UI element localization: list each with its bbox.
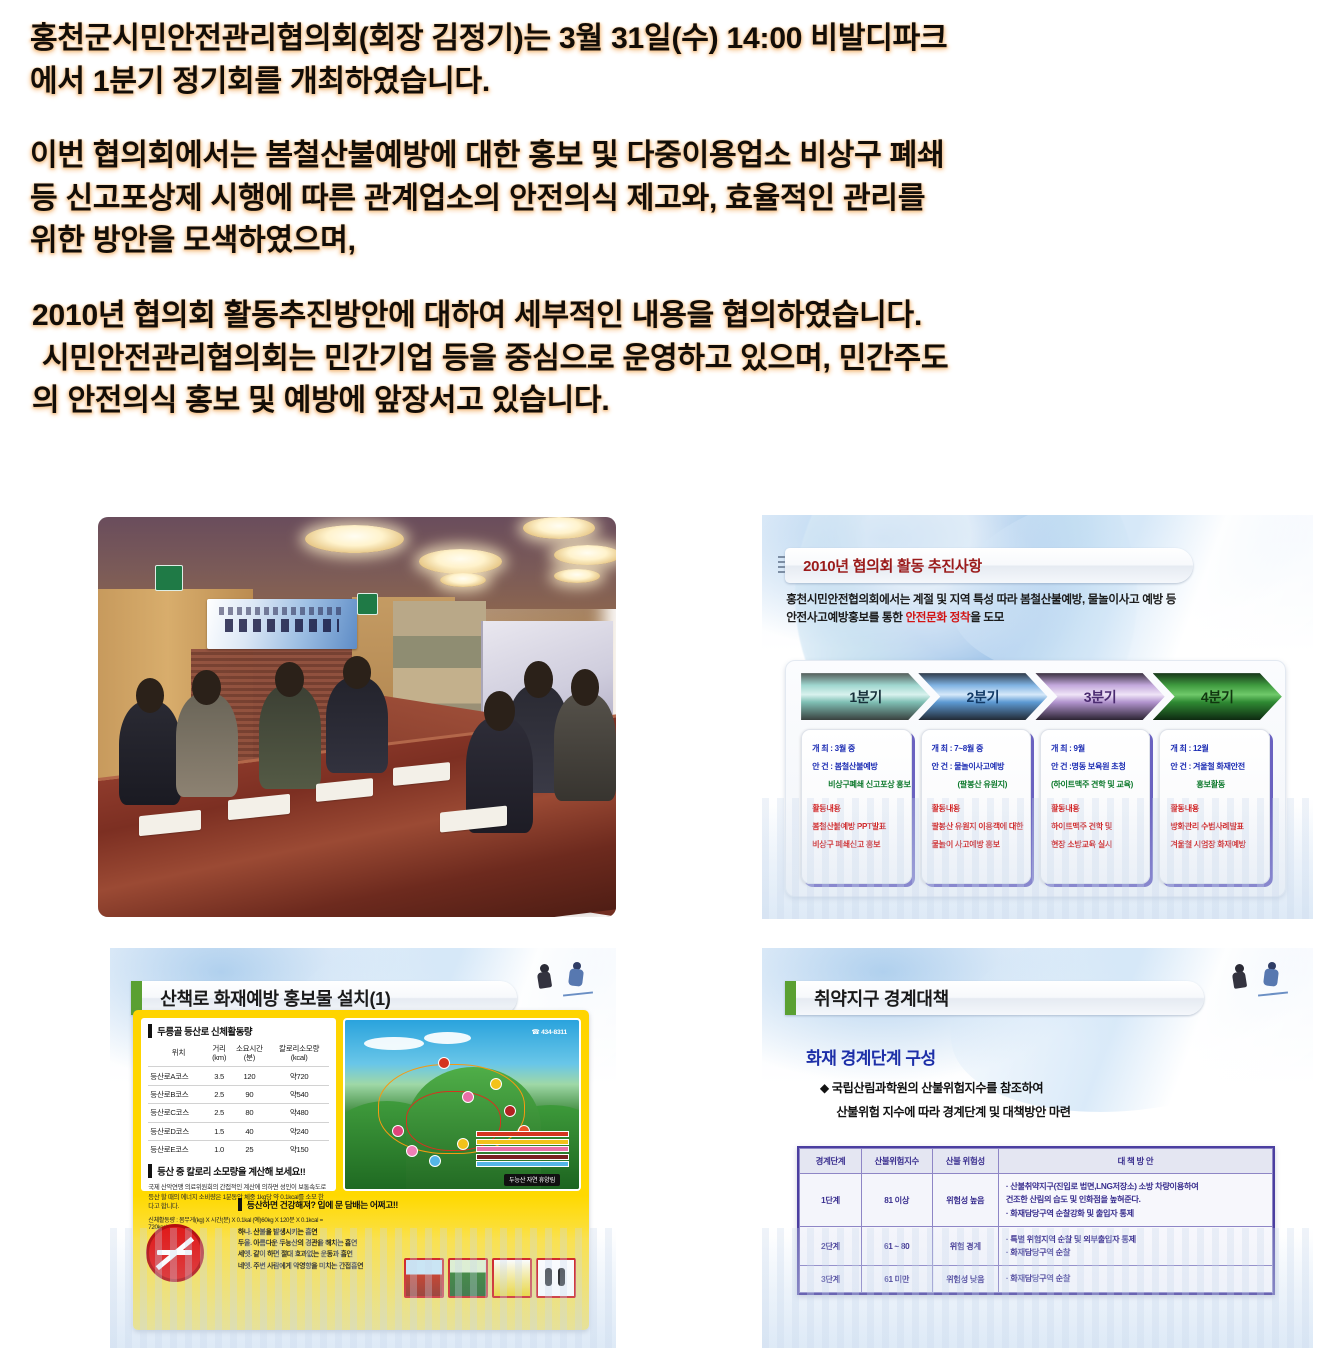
- paragraph-line: 에서 1분기 정기회를 개최하였습니다.: [30, 61, 1310, 104]
- banner-title-text: [225, 619, 339, 632]
- attendee: [259, 685, 321, 789]
- cell-kcal: 약720: [269, 1067, 329, 1085]
- paragraph-line: 시민안전관리협의회는 민간기업 등을 중심으로 운영하고 있으며, 민간주도: [32, 338, 1310, 381]
- cell-min: 40: [229, 1122, 269, 1140]
- quarter-card-row: 개 최 : 3월 중 안 건 : 봄철산불예방 비상구폐쇄 신고포상 홍보 활동…: [801, 729, 1270, 884]
- slide-title: 산책로 화재예방 홍보물 설치(1): [142, 985, 390, 1011]
- paragraph-line: 2010년 협의회 활동추진방안에 대하여 세부적인 내용을 협의하였습니다.: [32, 295, 1310, 338]
- table-row: 등산로C코스 2.5 80 약480: [148, 1104, 329, 1122]
- ceiling-lamp-icon: [554, 569, 601, 583]
- paragraph-line: 의 안전의식 홍보 및 예방에 앞장서고 있습니다.: [32, 380, 1310, 423]
- cell-km: 1.0: [209, 1140, 230, 1158]
- th-risk-level: 산불 위험성: [932, 1149, 998, 1174]
- skier-icons: [535, 962, 599, 996]
- table-row: 1단계 81 이상 위험성 높음 · 산불취약지구(진입로 법면,LNG저장소)…: [800, 1174, 1273, 1227]
- cloud-icon: [424, 1032, 471, 1044]
- card-agenda: 안 건 : 물놀이사고예방: [932, 762, 1022, 773]
- wildfire-pictogram-icon: [404, 1258, 444, 1298]
- cell-course: 등산로E코스: [148, 1140, 208, 1158]
- slide-title: 2010년 협의회 활동 추진사항: [785, 555, 982, 576]
- activity-table-panel: 두릉골 등산로 신체활동량 위치 거리 (km): [141, 1018, 336, 1191]
- cell-km: 2.5: [209, 1104, 230, 1122]
- plan-line: · 특별 위험지역 순찰 및 외부출입자 통제: [1006, 1233, 1268, 1246]
- title-tick-marks-icon: [778, 556, 785, 575]
- plan-line: · 화재담당구역 순찰: [1006, 1272, 1268, 1285]
- skier-icon: [1260, 962, 1286, 995]
- card-activity-1: 방화관리 수범사례발표: [1170, 822, 1260, 833]
- legend-swatch: [476, 1139, 569, 1145]
- cell-kcal: 약150: [269, 1140, 329, 1158]
- legend-swatch: [476, 1161, 569, 1167]
- card-activity-2: 물놀이 사고예방 홍보: [932, 840, 1022, 851]
- exit-sign-icon: [357, 593, 378, 615]
- activity-table: 위치 거리 (km) 소요시간 (분): [148, 1043, 329, 1158]
- cell-risk: 위험성 높음: [932, 1174, 998, 1227]
- quarter-chevron-q4[interactable]: 4분기: [1153, 673, 1282, 720]
- exit-sign-icon: [155, 565, 183, 591]
- table-row: 등산로A코스 3.5 120 약720: [148, 1067, 329, 1085]
- cell-min: 80: [229, 1104, 269, 1122]
- card-activity-1: 하이트맥주 견학 및: [1051, 822, 1141, 833]
- trail-marker: [504, 1105, 516, 1117]
- card-agenda-sub: 비상구폐쇄 신고포상 홍보: [812, 780, 902, 791]
- cell-course: 등산로D코스: [148, 1122, 208, 1140]
- attendee: [119, 701, 181, 805]
- th-main: 거리: [212, 1044, 225, 1053]
- cell-plan: · 특별 위험지역 순찰 및 외부출입자 통제 · 화재담당구역 순찰: [998, 1226, 1272, 1266]
- card-activity-1: 봄철산불예방 PPT발표: [812, 822, 902, 833]
- slide-quarterly-plan: 2010년 협의회 활동 추진사항 홍천시민안전협의회에서는 계절 및 지역 특…: [762, 515, 1313, 919]
- cell-km: 3.5: [209, 1067, 230, 1085]
- th-main: 소요시간: [236, 1044, 263, 1053]
- alert-stage-table: 경계단계 산불위험지수 산불 위험성 대 책 방 안 1단계 81 이상 위험성…: [799, 1148, 1273, 1293]
- cell-kcal: 약540: [269, 1085, 329, 1103]
- cell-plan: · 화재담당구역 순찰: [998, 1266, 1272, 1292]
- th-sub: (분): [244, 1053, 255, 1062]
- ceiling-lamp-icon: [419, 549, 502, 574]
- media-gallery: 2010년 협의회 활동 추진사항 홍천시민안전협의회에서는 계절 및 지역 특…: [0, 505, 1333, 1362]
- lead-line-1: 홍천시민안전협의회에서는 계절 및 지역 특성 따라 봄철산불예방, 물놀이사고…: [786, 591, 1282, 609]
- no-smoking-icon: [146, 1224, 204, 1282]
- table-heading: 두릉골 등산로 신체활동량: [148, 1024, 329, 1038]
- table-row: 3단계 61 미만 위험성 낮음 · 화재담당구역 순찰: [800, 1266, 1273, 1292]
- cell-kcal: 약480: [269, 1104, 329, 1122]
- card-open-date: 개 최 : 7~8월 중: [932, 744, 1022, 755]
- trail-marker: [392, 1125, 404, 1137]
- cell-course: 등산로C코스: [148, 1104, 208, 1122]
- cell-course: 등산로A코스: [148, 1067, 208, 1085]
- card-open-date: 개 최 : 12월: [1170, 744, 1260, 755]
- lead-line-2: 안전사고예방홍보를 통한 안전문화 정착을 도모: [786, 609, 1282, 627]
- quarter-card-q2: 개 최 : 7~8월 중 안 건 : 물놀이사고예방 (팔봉산 유원지) 활동내…: [921, 729, 1031, 884]
- photo-canvas: [98, 517, 616, 917]
- map-label: 두능산 자연 휴양림: [504, 1174, 560, 1186]
- legend-swatch: [476, 1146, 569, 1152]
- th-risk-index: 산불위험지수: [861, 1149, 932, 1174]
- cell-risk: 위험 경계: [932, 1226, 998, 1266]
- ceiling-lamp-icon: [305, 525, 403, 553]
- cell-km: 1.5: [209, 1122, 230, 1140]
- card-open-date: 개 최 : 9월: [1051, 744, 1141, 755]
- th-duration: 소요시간 (분): [229, 1043, 269, 1067]
- list-item: 하나. 산불을 발생시키는 흡연: [238, 1227, 458, 1238]
- map-legend: [476, 1131, 569, 1169]
- th-location: 위치: [148, 1043, 208, 1067]
- card-agenda-sub: 홍보활동: [1170, 780, 1260, 791]
- card-agenda-sub: (하이트맥주 견학 및 교육): [1051, 780, 1141, 791]
- quarter-chevron-q1[interactable]: 1분기: [801, 673, 930, 720]
- paragraph-1: 홍천군시민안전관리협의회(회장 김정기)는 3월 31일(수) 14:00 비발…: [30, 18, 1310, 103]
- bullet-line-1: ◆ 국립산림과학원의 산불위험지수를 참조하여: [820, 1078, 1043, 1096]
- plan-line: · 화재담당구역 순찰강화 및 출입자 통제: [1006, 1207, 1268, 1220]
- attendee: [554, 693, 616, 801]
- cell-kcal: 약240: [269, 1122, 329, 1140]
- paragraph-line: 등 신고포상제 시행에 따른 관계업소의 안전의식 제고와, 효율적인 관리를: [30, 178, 1310, 221]
- th-main: 위치: [172, 1048, 185, 1057]
- slide-canvas: 산책로 화재예방 홍보물 설치(1) 두릉골 등산로 신체활동량 위치: [110, 948, 616, 1348]
- paragraph-2: 이번 협의회에서는 봄철산불예방에 대한 홍보 및 다중이용업소 비상구 폐쇄 …: [30, 135, 1310, 263]
- card-open-date: 개 최 : 3월 중: [812, 744, 902, 755]
- cell-min: 120: [229, 1067, 269, 1085]
- th-sub: (km): [212, 1053, 226, 1062]
- card-activity-2: 겨울철 시엄장 화재예방: [1170, 840, 1260, 851]
- legend-swatch: [476, 1131, 569, 1137]
- card-activity-label: 활동내용: [812, 804, 902, 815]
- conference-photo: [98, 517, 616, 917]
- card-activity-2: 현장 소방교육 실시: [1051, 840, 1141, 851]
- table-row: 등산로B코스 2.5 90 약540: [148, 1085, 329, 1103]
- smoking-heading: 등산하면 건강해져? 입에 문 담배는 어쩌고!!: [238, 1198, 581, 1211]
- slide-title: 취약지구 경계대책: [796, 985, 949, 1011]
- hiker-icon: [1230, 964, 1252, 994]
- alert-stage-table-wrap: 경계단계 산불위험지수 산불 위험성 대 책 방 안 1단계 81 이상 위험성…: [797, 1146, 1275, 1295]
- card-agenda: 안 건 : 겨울철 화재안전: [1170, 762, 1260, 773]
- calc-heading: 등산 중 칼로리 소모량을 계산해 보세요!!: [148, 1164, 329, 1178]
- hiker-icon: [535, 964, 557, 994]
- quarter-card-q3: 개 최 : 9월 안 건 :명동 보육원 초청 (하이트맥주 견학 및 교육) …: [1040, 729, 1150, 884]
- paragraph-line: 홍천군시민안전관리협의회(회장 김정기)는 3월 31일(수) 14:00 비발…: [30, 18, 1310, 61]
- table-header-row: 경계단계 산불위험지수 산불 위험성 대 책 방 안: [800, 1149, 1273, 1174]
- legend-swatch: [476, 1154, 569, 1160]
- people-pictogram-icon: [536, 1258, 576, 1298]
- slide-canvas: 2010년 협의회 활동 추진사항 홍천시민안전협의회에서는 계절 및 지역 특…: [762, 515, 1313, 919]
- th-calories: 칼로리소모량 (kcal): [269, 1043, 329, 1067]
- lead-prefix: 안전사고예방홍보를 통한: [786, 611, 905, 624]
- banner-subtitle-text: [219, 607, 345, 615]
- cell-risk: 위험성 낮음: [932, 1266, 998, 1292]
- map-phone-number: ☎ 434-8311: [531, 1028, 567, 1036]
- bullet-line-2: 산불위험 지수에 따라 경계단계 및 대책방안 마련: [836, 1102, 1070, 1120]
- poster-upper: 두릉골 등산로 신체활동량 위치 거리 (km): [141, 1018, 580, 1191]
- cell-min: 25: [229, 1140, 269, 1158]
- trail-map-graphic: ☎ 434-8311 두능산 자연 휴양림: [343, 1018, 581, 1191]
- slide-canvas: 취약지구 경계대책 화재 경계단계 구성 ◆ 국립산림과학원의 산불위험지수를 …: [762, 948, 1313, 1348]
- table-row: 2단계 61 ~ 80 위험 경계 · 특별 위험지역 순찰 및 외부출입자 통…: [800, 1226, 1273, 1266]
- card-activity-2: 비상구 폐쇄신고 홍보: [812, 840, 902, 851]
- ceiling-lamp-icon: [554, 545, 616, 565]
- attendee: [176, 693, 238, 797]
- skier-icons: [1230, 962, 1294, 996]
- cell-course: 등산로B코스: [148, 1085, 208, 1103]
- poster-lower: 등산하면 건강해져? 입에 문 담배는 어쩌고!! 하나. 산불을 발생시키는 …: [141, 1198, 580, 1317]
- slide-title-bar: 취약지구 경계대책: [785, 981, 1204, 1015]
- forest-pictogram-icon: [448, 1258, 488, 1298]
- slide-title-bar: 2010년 협의회 활동 추진사항: [785, 548, 1193, 583]
- lead-highlight: 안전문화 정착: [905, 611, 970, 624]
- cell-stage: 3단계: [800, 1266, 861, 1292]
- th-stage: 경계단계: [800, 1149, 861, 1174]
- trail-marker: [406, 1145, 418, 1157]
- slide-trail-poster: 산책로 화재예방 홍보물 설치(1) 두릉골 등산로 신체활동량 위치: [110, 948, 616, 1348]
- trail-marker: [490, 1078, 502, 1090]
- quarter-chevron-row: 1분기 2분기 3분기 4분기: [801, 673, 1270, 720]
- table-row: 등산로E코스 1.0 25 약150: [148, 1140, 329, 1158]
- skier-icon: [565, 962, 591, 995]
- card-agenda: 안 건 : 봄철산불예방: [812, 762, 902, 773]
- list-item: 두울. 아름다운 두능산의 경관을 해치는 흡연: [238, 1238, 458, 1249]
- cell-index: 61 ~ 80: [861, 1226, 932, 1266]
- cell-index: 61 미만: [861, 1266, 932, 1292]
- cloud-icon: [364, 1037, 425, 1051]
- th-distance: 거리 (km): [209, 1043, 230, 1067]
- plan-line: · 화재담당구역 순찰: [1006, 1246, 1268, 1259]
- th-plan: 대 책 방 안: [998, 1149, 1272, 1174]
- section-heading: 화재 경계단계 구성: [806, 1044, 936, 1069]
- paragraph-3: 2010년 협의회 활동추진방안에 대하여 세부적인 내용을 협의하였습니다. …: [30, 295, 1310, 423]
- attendee: [326, 677, 388, 773]
- quarter-card-q4: 개 최 : 12월 안 건 : 겨울철 화재안전 홍보활동 활동내용 방화관리 …: [1159, 729, 1269, 884]
- ceiling-lamp-icon: [523, 517, 596, 539]
- card-activity-label: 활동내용: [1051, 804, 1141, 815]
- card-agenda: 안 건 :명동 보육원 초청: [1051, 762, 1141, 773]
- th-sub: (kcal): [291, 1053, 308, 1062]
- plan-line: 건조한 산림의 습도 및 인화점을 높혀준다.: [1006, 1193, 1268, 1206]
- article-body: 홍천군시민안전관리협의회(회장 김정기)는 3월 31일(수) 14:00 비발…: [30, 18, 1310, 423]
- quarter-chevron-q2[interactable]: 2분기: [918, 673, 1047, 720]
- slide-lead-text: 홍천시민안전협의회에서는 계절 및 지역 특성 따라 봄철산불예방, 물놀이사고…: [786, 591, 1282, 628]
- paragraph-line: 이번 협의회에서는 봄철산불예방에 대한 홍보 및 다중이용업소 비상구 폐쇄: [30, 135, 1310, 178]
- trail-marker: [462, 1091, 474, 1103]
- cell-stage: 2단계: [800, 1226, 861, 1266]
- slide-alert-stages: 취약지구 경계대책 화재 경계단계 구성 ◆ 국립산림과학원의 산불위험지수를 …: [762, 948, 1313, 1348]
- quarter-chevron-q3[interactable]: 3분기: [1035, 673, 1164, 720]
- th-main: 칼로리소모량: [279, 1044, 319, 1053]
- meeting-banner: [207, 599, 357, 649]
- cell-plan: · 산불취약지구(진입로 법면,LNG저장소) 소방 차량이용하여 건조한 산림…: [998, 1174, 1272, 1227]
- plan-line: · 산불취약지구(진입로 법면,LNG저장소) 소방 차량이용하여: [1006, 1180, 1268, 1193]
- table-header-row: 위치 거리 (km) 소요시간 (분): [148, 1043, 329, 1067]
- card-activity-label: 활동내용: [1170, 804, 1260, 815]
- cell-km: 2.5: [209, 1085, 230, 1103]
- card-agenda-sub: (팔봉산 유원지): [932, 780, 1022, 791]
- cell-stage: 1단계: [800, 1174, 861, 1227]
- quarter-board: 1분기 2분기 3분기 4분기 개 최 : 3월 중 안 건 : 봄철산불예방 …: [785, 660, 1286, 896]
- cell-min: 90: [229, 1085, 269, 1103]
- quarter-card-q1: 개 최 : 3월 중 안 건 : 봄철산불예방 비상구폐쇄 신고포상 홍보 활동…: [801, 729, 911, 884]
- cell-index: 81 이상: [861, 1174, 932, 1227]
- poster-board: 두릉골 등산로 신체활동량 위치 거리 (km): [133, 1010, 588, 1330]
- lungs-pictogram-icon: [492, 1258, 532, 1298]
- table-row: 등산로D코스 1.5 40 약240: [148, 1122, 329, 1140]
- card-activity-label: 활동내용: [932, 804, 1022, 815]
- paragraph-line: 위한 방안을 모색하였으며,: [30, 220, 1310, 263]
- lead-suffix: 을 도모: [970, 611, 1004, 624]
- card-activity-1: 팔봉산 유원지 이용객에 대한: [932, 822, 1022, 833]
